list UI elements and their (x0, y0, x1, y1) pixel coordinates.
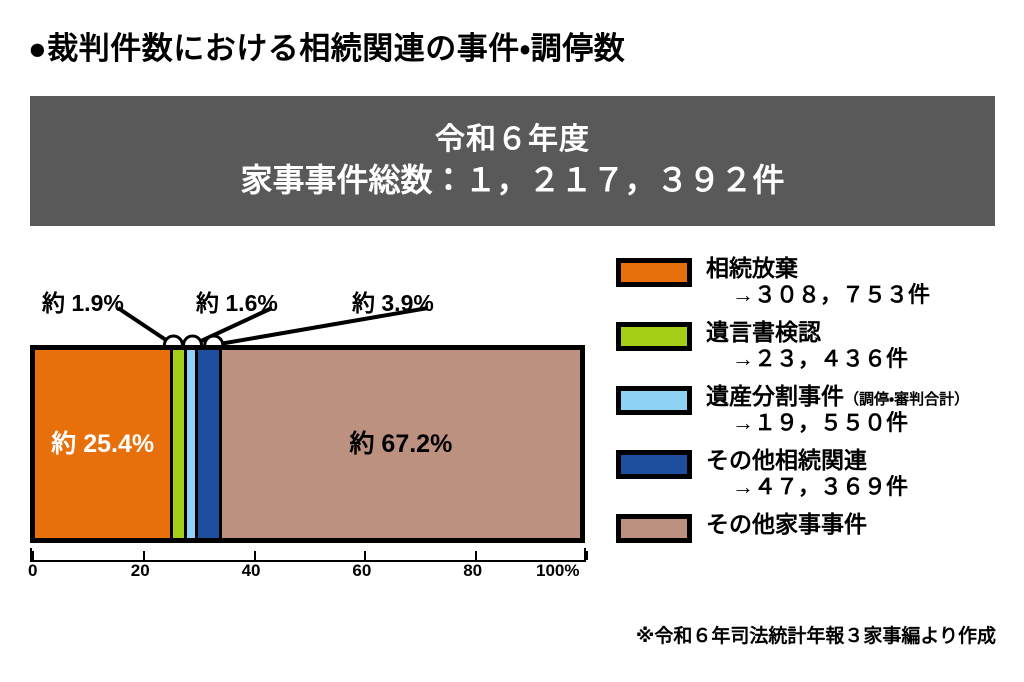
summary-banner: 令和６年度 家事事件総数：１，２１７，３９２件 (30, 96, 995, 226)
axis-tick-60 (364, 551, 366, 560)
legend-text-2: 遺産分割事件（調停・審判合計）→１９，５５０件 (706, 383, 969, 437)
legend-label-4: その他家事事件 (706, 511, 867, 537)
axis-tick-20 (143, 551, 145, 560)
bar-segment-label-4: 約 67.2% (349, 432, 452, 457)
axis-tick-0 (32, 551, 34, 560)
bar-segment-0: 約 25.4% (35, 350, 170, 538)
axis-tick-label-80: 80 (463, 562, 482, 579)
legend-label-2: 遺産分割事件（調停・審判合計） (706, 383, 969, 409)
banner-total-label: 家事事件総数：１，２１７，３９２件 (240, 164, 784, 198)
chart-x-axis-labels: 020406080100% (0, 562, 620, 586)
legend-text-3: その他相続関連→４７，３６９件 (706, 447, 908, 501)
legend-swatch-3 (616, 450, 692, 479)
legend-item-0[interactable]: 相続放棄→３０８，７５３件 (616, 255, 1016, 309)
legend-count-3: →４７，３６９件 (732, 473, 908, 501)
legend-count-2: →１９，５５０件 (732, 409, 969, 437)
source-note: ※令和６年司法統計年報３家事編より作成 (636, 627, 996, 646)
axis-tick-label-100: 100% (536, 562, 579, 579)
legend-count-0: →３０８，７５３件 (732, 281, 930, 309)
axis-tick-80 (475, 551, 477, 560)
legend-swatch-1 (616, 322, 692, 351)
legend-text-4: その他家事事件 (706, 511, 867, 537)
axis-tick-100 (586, 551, 588, 560)
legend-swatch-0 (616, 258, 692, 287)
stacked-bar: 約 25.4%約 67.2% (30, 345, 585, 543)
bar-segment-3 (195, 350, 219, 538)
axis-tick-40 (254, 551, 256, 560)
legend-sublabel-2: （調停・審判合計） (844, 391, 969, 408)
page-title: ●裁判件数における相続関連の事件・調停数 (28, 33, 625, 64)
chart-x-axis (30, 548, 586, 562)
legend-item-1[interactable]: 遺言書検認→２３，４３６件 (616, 319, 1016, 373)
legend-text-1: 遺言書検認→２３，４３６件 (706, 319, 908, 373)
legend-item-3[interactable]: その他相続関連→４７，３６９件 (616, 447, 1016, 501)
legend-swatch-4 (616, 514, 692, 543)
callout-label-waribun-1: 約 1.9% (42, 292, 124, 315)
bar-segment-2 (184, 350, 196, 538)
axis-tick-label-40: 40 (242, 562, 261, 579)
axis-tick-label-20: 20 (131, 562, 150, 579)
legend-item-2[interactable]: 遺産分割事件（調停・審判合計）→１９，５５０件 (616, 383, 1016, 437)
legend-count-1: →２３，４３６件 (732, 345, 908, 373)
callout-label-waribun-2: 約 1.6% (196, 292, 278, 315)
bar-segment-1 (170, 350, 183, 538)
chart-legend: 相続放棄→３０８，７５３件遺言書検認→２３，４３６件遺産分割事件（調停・審判合計… (616, 255, 1016, 553)
legend-text-0: 相続放棄→３０８，７５３件 (706, 255, 930, 309)
legend-swatch-2 (616, 386, 692, 415)
callout-label-waribun-3: 約 3.9% (352, 292, 434, 315)
bar-segment-label-0: 約 25.4% (51, 432, 154, 457)
legend-label-1: 遺言書検認 (706, 319, 908, 345)
legend-label-0: 相続放棄 (706, 255, 930, 281)
axis-tick-label-60: 60 (352, 562, 371, 579)
legend-item-4[interactable]: その他家事事件 (616, 511, 1016, 543)
bar-segment-4: 約 67.2% (219, 350, 580, 538)
axis-tick-label-0: 0 (28, 562, 37, 579)
banner-era-label: 令和６年度 (435, 124, 590, 156)
legend-label-3: その他相続関連 (706, 447, 908, 473)
